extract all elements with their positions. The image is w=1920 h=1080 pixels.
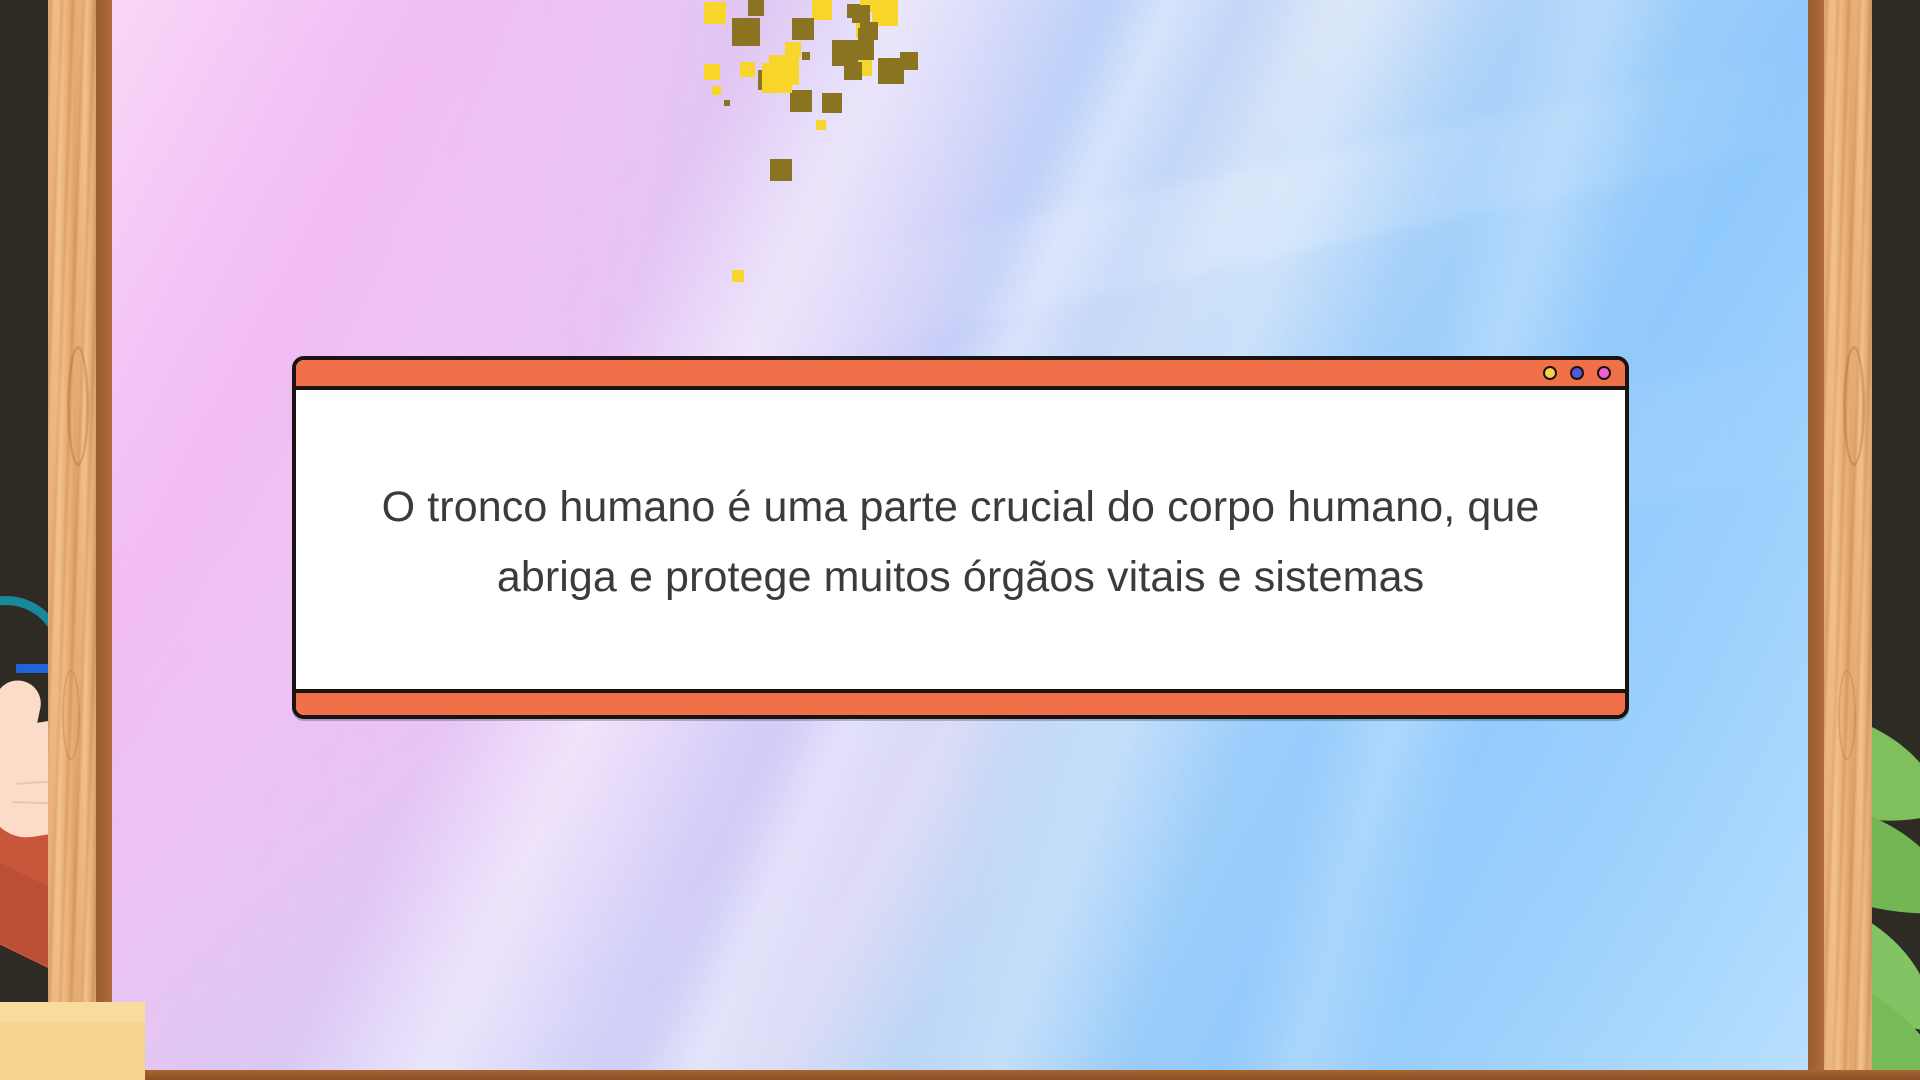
- wood-frame-right: [1824, 0, 1872, 1080]
- confetti-square: [844, 62, 862, 80]
- confetti-square: [712, 86, 721, 95]
- confetti-square: [704, 2, 726, 24]
- confetti-square: [860, 22, 878, 40]
- confetti-square: [762, 63, 792, 93]
- confetti-square: [802, 52, 810, 60]
- confetti-square: [858, 44, 874, 60]
- confetti-square: [740, 62, 755, 77]
- window-titlebar[interactable]: [296, 360, 1625, 390]
- wood-frame-inner-right: [1808, 0, 1824, 1080]
- confetti-square: [785, 42, 801, 58]
- content-window: O tronco humano é uma parte crucial do c…: [292, 356, 1629, 719]
- confetti-square: [724, 100, 730, 106]
- minimize-dot-icon[interactable]: [1543, 366, 1557, 380]
- window-body: O tronco humano é uma parte crucial do c…: [296, 390, 1625, 689]
- confetti-square: [732, 270, 744, 282]
- desk-ledge-top: [0, 1002, 145, 1022]
- wood-frame-bottom: [0, 1070, 1920, 1080]
- confetti-square: [852, 5, 870, 23]
- wood-knot: [67, 346, 89, 466]
- close-dot-icon[interactable]: [1597, 366, 1611, 380]
- wood-knot: [1843, 346, 1865, 466]
- wood-grain-texture: [1824, 0, 1872, 1080]
- confetti-square: [732, 18, 760, 46]
- confetti-square: [748, 0, 764, 16]
- maximize-dot-icon[interactable]: [1570, 366, 1584, 380]
- window-paragraph: O tronco humano é uma parte crucial do c…: [374, 473, 1547, 612]
- confetti-square: [792, 18, 814, 40]
- confetti-square: [790, 90, 812, 112]
- confetti-square: [900, 52, 918, 70]
- wood-frame-left: [48, 0, 96, 1080]
- wood-frame-inner-left: [96, 0, 112, 1080]
- window-footerbar: [296, 689, 1625, 715]
- slide-scene: O tronco humano é uma parte crucial do c…: [0, 0, 1920, 1080]
- confetti-square: [812, 0, 832, 20]
- confetti-square: [770, 159, 792, 181]
- wood-grain-texture: [48, 0, 96, 1080]
- confetti-square: [816, 120, 826, 130]
- confetti-square: [822, 93, 842, 113]
- confetti-square: [704, 64, 720, 80]
